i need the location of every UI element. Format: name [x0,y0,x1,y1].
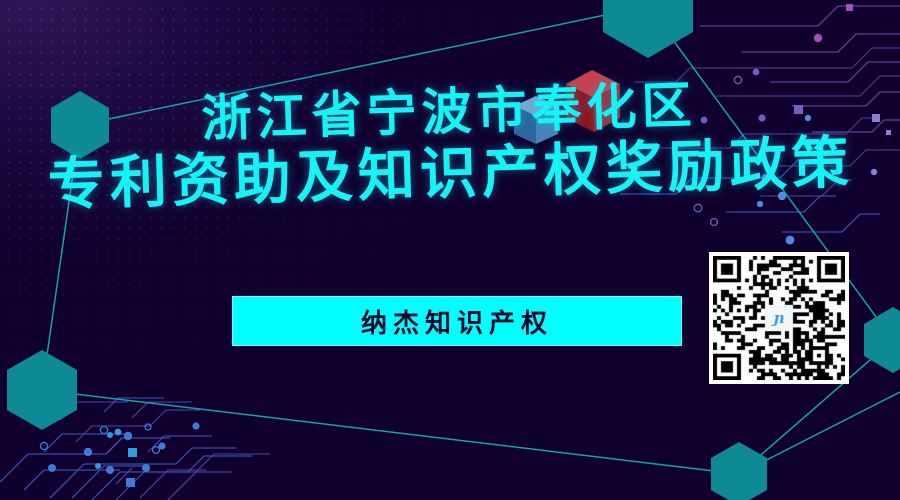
qr-logo-glyph: ɲ [774,311,785,326]
cta-button[interactable]: 纳杰知识产权 [232,296,682,346]
cta-button-label: 纳杰知识产权 [361,303,553,340]
poster-canvas: 浙江省宁波市奉化区 专利资助及知识产权奖励政策 纳杰知识产权 ɲ [0,0,900,500]
cube-decorations [0,0,900,500]
page-title: 浙江省宁波市奉化区 专利资助及知识产权奖励政策 [0,73,900,215]
qr-center-logo-icon: ɲ [766,305,792,331]
qr-code-panel[interactable]: ɲ [709,252,849,384]
